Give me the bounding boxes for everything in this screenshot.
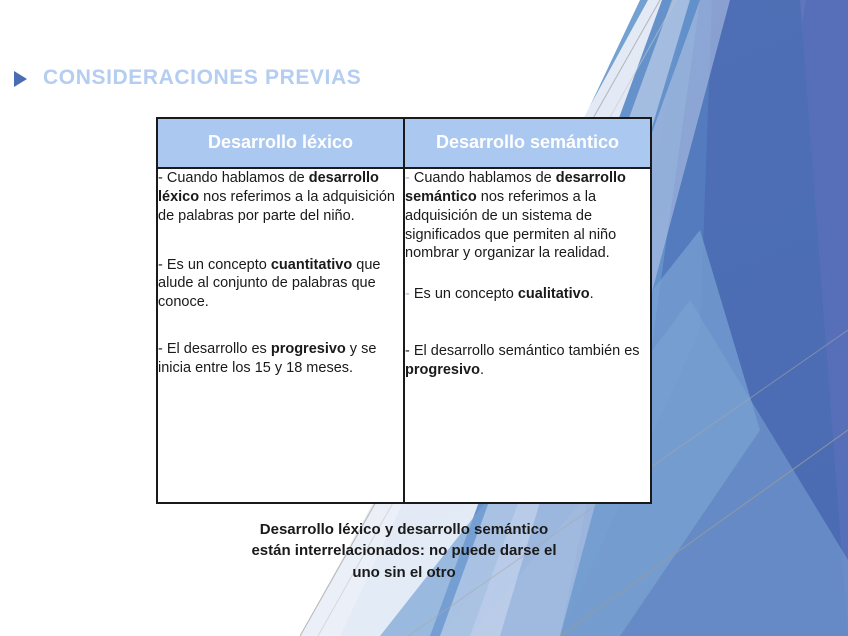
- lexico-paragraph-1: - Cuando hablamos de desarrollo léxico n…: [158, 169, 403, 226]
- column-header-lexico-label: Desarrollo léxico: [208, 132, 353, 152]
- column-header-semantico: Desarrollo semántico: [404, 118, 651, 168]
- caption-line-3: uno sin el otro: [156, 562, 652, 583]
- semantico-p2-pre: Es un concepto: [410, 286, 518, 302]
- lexico-p3-bold: progresivo: [271, 341, 346, 357]
- table-header-row: Desarrollo léxico Desarrollo semántico: [157, 118, 651, 168]
- table-body-row: - Cuando hablamos de desarrollo léxico n…: [157, 168, 651, 503]
- semantico-p3-bold: progresivo: [405, 362, 480, 378]
- slide-title-row: CONSIDERACIONES PREVIAS: [14, 66, 361, 90]
- semantico-p3-pre: El desarrollo semántico también es: [410, 343, 640, 359]
- lexico-paragraph-3: - El desarrollo es progresivo y se inici…: [158, 340, 403, 378]
- caption-line-1: Desarrollo léxico y desarrollo semántico: [156, 519, 652, 540]
- lexico-p3-pre: El desarrollo es: [163, 341, 271, 357]
- semantico-p2-bold: cualitativo: [518, 286, 590, 302]
- lexico-p1-pre: Cuando hablamos de: [163, 170, 309, 186]
- triangle-right-icon: [14, 71, 27, 87]
- page-title: CONSIDERACIONES PREVIAS: [43, 66, 361, 90]
- slide-canvas: CONSIDERACIONES PREVIAS Desarrollo léxic…: [0, 0, 848, 636]
- cell-desarrollo-lexico: - Cuando hablamos de desarrollo léxico n…: [157, 168, 404, 503]
- semantico-paragraph-1: - Cuando hablamos de desarrollo semántic…: [405, 169, 650, 263]
- column-header-lexico: Desarrollo léxico: [157, 118, 404, 168]
- lexico-paragraph-2: - Es un concepto cuantitativo que alude …: [158, 256, 403, 313]
- comparison-table: Desarrollo léxico Desarrollo semántico -…: [156, 117, 652, 504]
- column-header-semantico-label: Desarrollo semántico: [436, 132, 619, 152]
- semantico-p2-post: .: [590, 286, 594, 302]
- semantico-paragraph-3: - El desarrollo semántico también es pro…: [405, 342, 650, 380]
- semantico-paragraph-2: - Es un concepto cualitativo.: [405, 285, 650, 304]
- semantico-p3-post: .: [480, 362, 484, 378]
- cell-desarrollo-semantico: - Cuando hablamos de desarrollo semántic…: [404, 168, 651, 503]
- table-caption: Desarrollo léxico y desarrollo semántico…: [156, 519, 652, 583]
- lexico-p2-bold: cuantitativo: [271, 257, 352, 273]
- semantico-p1-pre: Cuando hablamos de: [410, 170, 556, 186]
- caption-line-2: están interrelacionados: no puede darse …: [156, 540, 652, 561]
- lexico-p2-pre: Es un concepto: [163, 257, 271, 273]
